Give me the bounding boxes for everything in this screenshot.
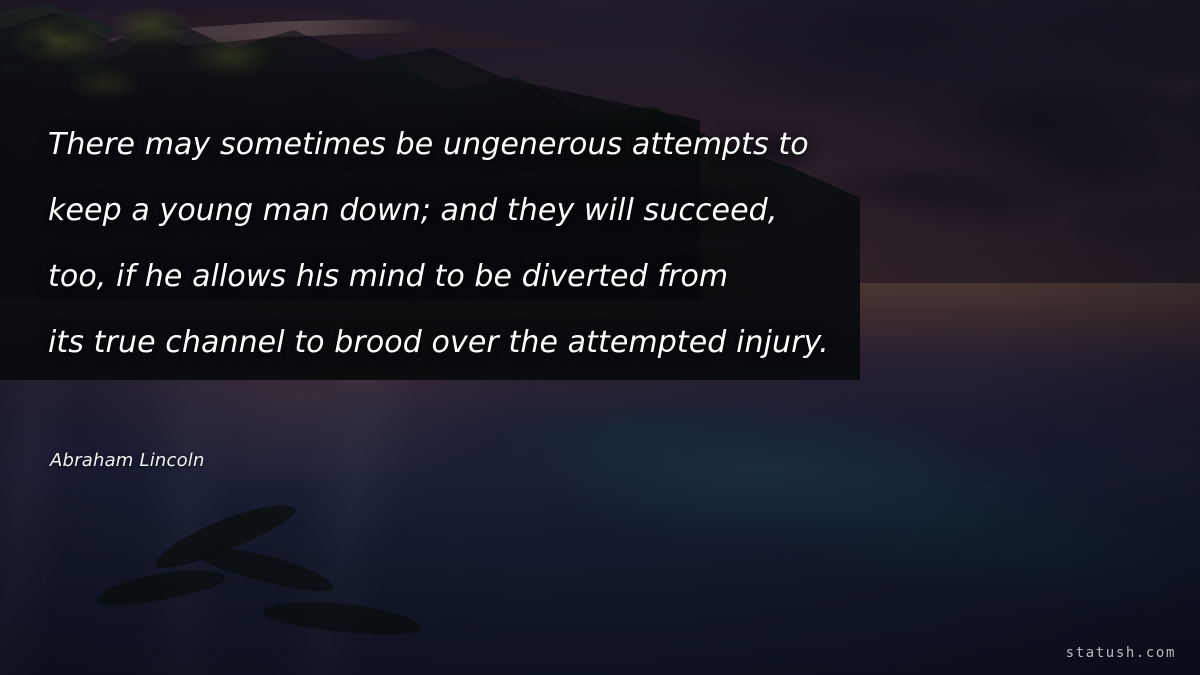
author-name: Abraham Lincoln xyxy=(50,450,205,471)
site-watermark: statush.com xyxy=(1066,645,1176,661)
quote-card: There may sometimes be ungenerous attemp… xyxy=(0,0,1200,675)
quote-text: There may sometimes be ungenerous attemp… xyxy=(48,112,948,376)
text-content: There may sometimes be ungenerous attemp… xyxy=(0,0,1200,675)
